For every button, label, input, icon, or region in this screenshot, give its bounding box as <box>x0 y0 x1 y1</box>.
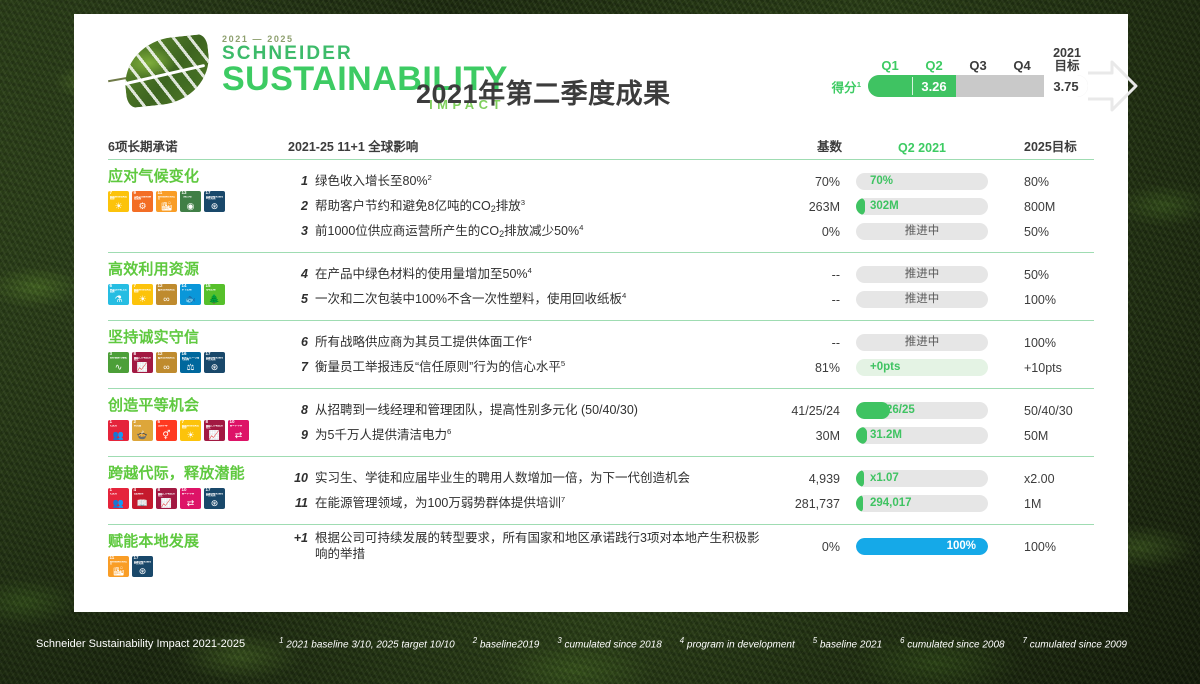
impact-number: +1 <box>288 531 308 545</box>
sdg-13-icon: 13气候行动◉ <box>180 191 201 212</box>
sdg-14-icon: 14水下生物🐟 <box>180 284 201 305</box>
sdg-icon-row: 7经济适用的清洁能源☀9产业、创新和基础设施⚙11可持续城市和社区🏙13气候行动… <box>108 191 288 212</box>
footnote: 6 cumulated since 2008 <box>900 636 1004 650</box>
progress-cell: 推进中 <box>842 266 1002 283</box>
target-value: 80% <box>1002 175 1094 189</box>
target-value: 50% <box>1002 225 1094 239</box>
slide-footer: Schneider Sustainability Impact 2021-202… <box>36 636 1190 650</box>
sdg-7-icon: 7经济适用的清洁能源☀ <box>108 191 129 212</box>
sdg-16-icon: 16和平、正义与强大机构⚖ <box>180 352 201 373</box>
sdg-17-icon: 17促进目标实现的伙伴关系⊛ <box>204 488 225 509</box>
quarter-label-q3: Q3 <box>956 58 1000 74</box>
progress-cell: 302M <box>842 198 1002 215</box>
baseline-value: 263M <box>766 200 842 214</box>
baseline-value: 70% <box>766 175 842 189</box>
progress-cell: 推进中 <box>842 334 1002 351</box>
table-header-row: 6项长期承诺 2021-25 11+1 全球影响 基数 Q2 2021 2025… <box>108 132 1094 160</box>
progress-bar: 31.2M <box>856 427 988 444</box>
impact-rows: 6所有战略供应商为其员工提供体面工作4--推进中100%7衡量员工举报违反“信任… <box>288 330 1094 380</box>
quarter-label-target: 2021 目标 <box>1044 47 1090 75</box>
progress-bar: 302M <box>856 198 988 215</box>
sdg-icon-row: 11可持续城市和社区🏙17促进目标实现的伙伴关系⊛ <box>108 556 288 577</box>
sdg-8-icon: 8体面工作和经济增长📈 <box>132 352 153 373</box>
impact-description: 衡量员工举报违反“信任原则”行为的信心水平5 <box>315 359 565 376</box>
sdg-12-icon: 12负责任消费和生产∞ <box>156 284 177 305</box>
progress-bar: 294,017 <box>856 495 988 512</box>
impact-number: 9 <box>288 428 308 442</box>
commitment-title: 创造平等机会 <box>108 398 288 415</box>
sdg-10-icon: 10减少不平等⇄ <box>228 420 249 441</box>
impact-description: 实习生、学徒和应届毕业生的聘用人数增加一倍，为下一代创造机会 <box>315 471 690 487</box>
impact-rows: 8从招聘到一线经理和管理团队，提高性别多元化 (50/40/30)41/25/2… <box>288 398 1094 448</box>
impact-number: 3 <box>288 224 308 238</box>
target-value: x2.00 <box>1002 472 1094 486</box>
sdg-8-icon: 8体面工作和经济增长📈 <box>156 488 177 509</box>
arrow-icon <box>1086 59 1138 113</box>
quarter-label-q1: Q1 <box>868 58 912 74</box>
progress-value: 推进中 <box>856 334 988 351</box>
impact-description: 前1000位供应商运营所产生的CO2排放减少50%4 <box>315 223 583 240</box>
impact-rows: +1根据公司可持续发展的转型要求，所有国家和地区承诺践行3项对本地产生积极影响的… <box>288 534 1094 577</box>
sdg-11-icon: 11可持续城市和社区🏙 <box>108 556 129 577</box>
sdg-17-icon: 17促进目标实现的伙伴关系⊛ <box>204 352 225 373</box>
impact-description: 在能源管理领域，为100万弱势群体提供培训7 <box>315 495 565 512</box>
sdg-2-icon: 2零饥饿🍲 <box>132 420 153 441</box>
commitment-section: 应对气候变化7经济适用的清洁能源☀9产业、创新和基础设施⚙11可持续城市和社区🏙… <box>108 160 1094 253</box>
baseline-value: 81% <box>766 361 842 375</box>
score-segment-target: 3.75 <box>1044 75 1088 97</box>
baseline-value: -- <box>766 293 842 307</box>
impact-text: 3前1000位供应商运营所产生的CO2排放减少50%4 <box>288 223 766 240</box>
progress-cell: x1.07 <box>842 470 1002 487</box>
baseline-value: -- <box>766 336 842 350</box>
sdg-5-icon: 5性别平等⚥ <box>156 420 177 441</box>
impact-text: 10实习生、学徒和应届毕业生的聘用人数增加一倍，为下一代创造机会 <box>288 471 766 487</box>
impact-description: 绿色收入增长至80%2 <box>315 173 432 190</box>
progress-value: 43/26/25 <box>856 402 988 419</box>
impact-number: 5 <box>288 292 308 306</box>
impact-number: 7 <box>288 360 308 374</box>
sdg-icon-row: 1无贫穷👥2零饥饿🍲5性别平等⚥7经济适用的清洁能源☀8体面工作和经济增长📈10… <box>108 420 288 441</box>
commitments-table: 6项长期承诺 2021-25 11+1 全球影响 基数 Q2 2021 2025… <box>108 132 1094 585</box>
impact-rows: 4在产品中绿色材料的使用量增加至50%4--推进中50%5一次和二次包装中100… <box>288 262 1094 312</box>
progress-bar: 43/26/25 <box>856 402 988 419</box>
progress-cell: 推进中 <box>842 291 1002 308</box>
impact-number: 8 <box>288 403 308 417</box>
target-value: +10pts <box>1002 361 1094 375</box>
quarter-label-q2: Q2 <box>912 58 956 74</box>
sdg-icon-row: 3良好健康与福祉∿8体面工作和经济增长📈12负责任消费和生产∞16和平、正义与强… <box>108 352 288 373</box>
baseline-value: 4,939 <box>766 472 842 486</box>
commitment-title: 高效利用资源 <box>108 262 288 279</box>
progress-value: 31.2M <box>856 427 988 444</box>
sdg-15-icon: 15陆地生物🌲 <box>204 284 225 305</box>
footer-brand: Schneider Sustainability Impact 2021-202… <box>36 638 245 650</box>
commitment-section: 跨越代际，释放潜能1无贫穷👥4优质教育📖8体面工作和经济增长📈10减少不平等⇄1… <box>108 457 1094 525</box>
progress-value: 推进中 <box>856 223 988 240</box>
impact-description: 根据公司可持续发展的转型要求，所有国家和地区承诺践行3项对本地产生积极影响的举措 <box>315 531 766 562</box>
commitment-section: 坚持诚实守信3良好健康与福祉∿8体面工作和经济增长📈12负责任消费和生产∞16和… <box>108 321 1094 389</box>
column-header-impacts: 2021-25 11+1 全球影响 <box>288 136 766 155</box>
impact-description: 从招聘到一线经理和管理团队，提高性别多元化 (50/40/30) <box>315 403 638 419</box>
progress-bar: 推进中 <box>856 334 988 351</box>
commitment-title: 赋能本地发展 <box>108 534 288 551</box>
table-row: 6所有战略供应商为其员工提供体面工作4--推进中100% <box>288 330 1094 355</box>
commitment-section: 创造平等机会1无贫穷👥2零饥饿🍲5性别平等⚥7经济适用的清洁能源☀8体面工作和经… <box>108 389 1094 457</box>
table-row: 10实习生、学徒和应届毕业生的聘用人数增加一倍，为下一代创造机会4,939x1.… <box>288 466 1094 491</box>
progress-value: 294,017 <box>856 495 988 512</box>
target-value: 800M <box>1002 200 1094 214</box>
target-value: 100% <box>1002 293 1094 307</box>
progress-bar: 推进中 <box>856 266 988 283</box>
progress-value: 100% <box>856 538 988 555</box>
impact-text: 8从招聘到一线经理和管理团队，提高性别多元化 (50/40/30) <box>288 403 766 419</box>
sdg-10-icon: 10减少不平等⇄ <box>180 488 201 509</box>
score-segment-q4 <box>1000 75 1044 97</box>
progress-cell: 43/26/25 <box>842 402 1002 419</box>
table-row: 7衡量员工举报违反“信任原则”行为的信心水平581%+0pts+10pts <box>288 355 1094 380</box>
sdg-4-icon: 4优质教育📖 <box>132 488 153 509</box>
progress-value: x1.07 <box>856 470 988 487</box>
sdg-9-icon: 9产业、创新和基础设施⚙ <box>132 191 153 212</box>
column-header-progress: Q2 2021 <box>842 141 1002 155</box>
target-value: 50M <box>1002 429 1094 443</box>
impact-description: 所有战略供应商为其员工提供体面工作4 <box>315 334 532 351</box>
impact-number: 11 <box>288 496 308 510</box>
score-label: 得分1 <box>810 77 868 96</box>
impact-description: 帮助客户节约和避免8亿吨的CO2排放3 <box>315 198 525 215</box>
sdg-17-icon: 17促进目标实现的伙伴关系⊛ <box>132 556 153 577</box>
sdg-7-icon: 7经济适用的清洁能源☀ <box>132 284 153 305</box>
table-body: 应对气候变化7经济适用的清洁能源☀9产业、创新和基础设施⚙11可持续城市和社区🏙… <box>108 160 1094 585</box>
footnote: 2 baseline2019 <box>473 636 540 650</box>
impact-description: 为5千万人提供清洁电力6 <box>315 427 451 444</box>
impact-number: 4 <box>288 267 308 281</box>
commitment-cell: 赋能本地发展11可持续城市和社区🏙17促进目标实现的伙伴关系⊛ <box>108 534 288 577</box>
target-value: 50/40/30 <box>1002 404 1094 418</box>
table-row: 5一次和二次包装中100%不含一次性塑料，使用回收纸板4--推进中100% <box>288 287 1094 312</box>
sdg-3-icon: 3良好健康与福祉∿ <box>108 352 129 373</box>
footnote: 3 cumulated since 2018 <box>557 636 661 650</box>
baseline-value: 41/25/24 <box>766 404 842 418</box>
sdg-icon-row: 6清洁饮水和卫生设施⚗7经济适用的清洁能源☀12负责任消费和生产∞14水下生物🐟… <box>108 284 288 305</box>
progress-value: 70% <box>856 173 988 190</box>
progress-cell: 70% <box>842 173 1002 190</box>
score-segment-q2: 3.26 <box>912 75 956 97</box>
leaf-icon <box>108 34 214 108</box>
target-word: 目标 <box>1054 59 1079 73</box>
table-row: 11在能源管理领域，为100万弱势群体提供培训7281,737294,0171M <box>288 491 1094 516</box>
impact-description: 在产品中绿色材料的使用量增加至50%4 <box>315 266 532 283</box>
table-row: 4在产品中绿色材料的使用量增加至50%4--推进中50% <box>288 262 1094 287</box>
table-row: 3前1000位供应商运营所产生的CO2排放减少50%40%推进中50% <box>288 219 1094 244</box>
page-title: 2021年第二季度成果 <box>416 72 671 111</box>
footnote: 5 baseline 2021 <box>813 636 882 650</box>
impact-text: 2帮助客户节约和避免8亿吨的CO2排放3 <box>288 198 766 215</box>
footnote-list: 1 2021 baseline 3/10, 2025 target 10/102… <box>279 636 1127 650</box>
commitment-section: 赋能本地发展11可持续城市和社区🏙17促进目标实现的伙伴关系⊛+1根据公司可持续… <box>108 525 1094 585</box>
progress-cell: 294,017 <box>842 495 1002 512</box>
sdg-6-icon: 6清洁饮水和卫生设施⚗ <box>108 284 129 305</box>
table-row: 9为5千万人提供清洁电力630M31.2M50M <box>288 423 1094 448</box>
target-year: 2021 <box>1053 46 1081 60</box>
quarter-score-board: Q1 Q2 Q3 Q4 2021 目标 得分1 3.26 3.75 <box>810 40 1110 98</box>
sdg-1-icon: 1无贫穷👥 <box>108 488 129 509</box>
progress-bar: 推进中 <box>856 291 988 308</box>
impact-text: 4在产品中绿色材料的使用量增加至50%4 <box>288 266 766 283</box>
impact-number: 1 <box>288 174 308 188</box>
sdg-11-icon: 11可持续城市和社区🏙 <box>156 191 177 212</box>
progress-bar: 100% <box>856 538 988 555</box>
progress-cell: +0pts <box>842 359 1002 376</box>
score-row: 得分1 3.26 3.75 <box>810 74 1110 98</box>
impact-text: 6所有战略供应商为其员工提供体面工作4 <box>288 334 766 351</box>
impact-number: 6 <box>288 335 308 349</box>
commitment-title: 坚持诚实守信 <box>108 330 288 347</box>
baseline-value: 0% <box>766 540 842 554</box>
impact-rows: 1绿色收入增长至80%270%70%80%2帮助客户节约和避免8亿吨的CO2排放… <box>288 169 1094 244</box>
sdg-17-icon: 17促进目标实现的伙伴关系⊛ <box>204 191 225 212</box>
table-row: 2帮助客户节约和避免8亿吨的CO2排放3263M302M800M <box>288 194 1094 219</box>
target-value: 100% <box>1002 540 1094 554</box>
footnote: 1 2021 baseline 3/10, 2025 target 10/10 <box>279 636 455 650</box>
table-row: +1根据公司可持续发展的转型要求，所有国家和地区承诺践行3项对本地产生积极影响的… <box>288 534 1094 559</box>
commitment-title: 跨越代际，释放潜能 <box>108 466 288 483</box>
column-header-commitments: 6项长期承诺 <box>108 136 288 155</box>
footnote: 7 cumulated since 2009 <box>1023 636 1127 650</box>
impact-text: 11在能源管理领域，为100万弱势群体提供培训7 <box>288 495 766 512</box>
commitment-title: 应对气候变化 <box>108 169 288 186</box>
score-segment-q1 <box>868 75 912 97</box>
progress-bar: +0pts <box>856 359 988 376</box>
footnote: 4 program in development <box>680 636 795 650</box>
progress-value: 推进中 <box>856 266 988 283</box>
slide-card: 2021 — 2025 SCHNEIDER SUSTAINABILITY IMP… <box>74 14 1128 612</box>
sdg-7-icon: 7经济适用的清洁能源☀ <box>180 420 201 441</box>
impact-number: 10 <box>288 471 308 485</box>
baseline-value: 281,737 <box>766 497 842 511</box>
impact-text: 1绿色收入增长至80%2 <box>288 173 766 190</box>
baseline-value: -- <box>766 268 842 282</box>
progress-bar: 推进中 <box>856 223 988 240</box>
score-segment-q3 <box>956 75 1000 97</box>
impact-rows: 10实习生、学徒和应届毕业生的聘用人数增加一倍，为下一代创造机会4,939x1.… <box>288 466 1094 516</box>
score-track: 3.26 3.75 <box>868 75 1088 97</box>
column-header-baseline: 基数 <box>766 136 842 155</box>
commitment-section: 高效利用资源6清洁饮水和卫生设施⚗7经济适用的清洁能源☀12负责任消费和生产∞1… <box>108 253 1094 321</box>
commitment-cell: 跨越代际，释放潜能1无贫穷👥4优质教育📖8体面工作和经济增长📈10减少不平等⇄1… <box>108 466 288 516</box>
progress-bar: x1.07 <box>856 470 988 487</box>
impact-text: 5一次和二次包装中100%不含一次性塑料，使用回收纸板4 <box>288 291 766 308</box>
quarter-label-q4: Q4 <box>1000 58 1044 74</box>
slide-header: 2021 — 2025 SCHNEIDER SUSTAINABILITY IMP… <box>74 14 1128 126</box>
target-value: 50% <box>1002 268 1094 282</box>
progress-bar: 70% <box>856 173 988 190</box>
impact-description: 一次和二次包装中100%不含一次性塑料，使用回收纸板4 <box>315 291 626 308</box>
target-value: 100% <box>1002 336 1094 350</box>
baseline-value: 30M <box>766 429 842 443</box>
table-row: 8从招聘到一线经理和管理团队，提高性别多元化 (50/40/30)41/25/2… <box>288 398 1094 423</box>
commitment-cell: 创造平等机会1无贫穷👥2零饥饿🍲5性别平等⚥7经济适用的清洁能源☀8体面工作和经… <box>108 398 288 448</box>
commitment-cell: 高效利用资源6清洁饮水和卫生设施⚗7经济适用的清洁能源☀12负责任消费和生产∞1… <box>108 262 288 312</box>
baseline-value: 0% <box>766 225 842 239</box>
impact-number: 2 <box>288 199 308 213</box>
progress-cell: 推进中 <box>842 223 1002 240</box>
quarter-labels: Q1 Q2 Q3 Q4 2021 目标 <box>810 40 1110 74</box>
sdg-8-icon: 8体面工作和经济增长📈 <box>204 420 225 441</box>
sdg-12-icon: 12负责任消费和生产∞ <box>156 352 177 373</box>
progress-value: 302M <box>856 198 988 215</box>
impact-text: 9为5千万人提供清洁电力6 <box>288 427 766 444</box>
column-header-target: 2025目标 <box>1002 136 1094 155</box>
sdg-icon-row: 1无贫穷👥4优质教育📖8体面工作和经济增长📈10减少不平等⇄17促进目标实现的伙… <box>108 488 288 509</box>
impact-text: 7衡量员工举报违反“信任原则”行为的信心水平5 <box>288 359 766 376</box>
commitment-cell: 应对气候变化7经济适用的清洁能源☀9产业、创新和基础设施⚙11可持续城市和社区🏙… <box>108 169 288 244</box>
sdg-1-icon: 1无贫穷👥 <box>108 420 129 441</box>
progress-value: +0pts <box>856 359 988 376</box>
progress-cell: 31.2M <box>842 427 1002 444</box>
commitment-cell: 坚持诚实守信3良好健康与福祉∿8体面工作和经济增长📈12负责任消费和生产∞16和… <box>108 330 288 380</box>
impact-text: +1根据公司可持续发展的转型要求，所有国家和地区承诺践行3项对本地产生积极影响的… <box>288 531 766 562</box>
progress-cell: 100% <box>842 538 1002 555</box>
target-value: 1M <box>1002 497 1094 511</box>
progress-value: 推进中 <box>856 291 988 308</box>
table-row: 1绿色收入增长至80%270%70%80% <box>288 169 1094 194</box>
